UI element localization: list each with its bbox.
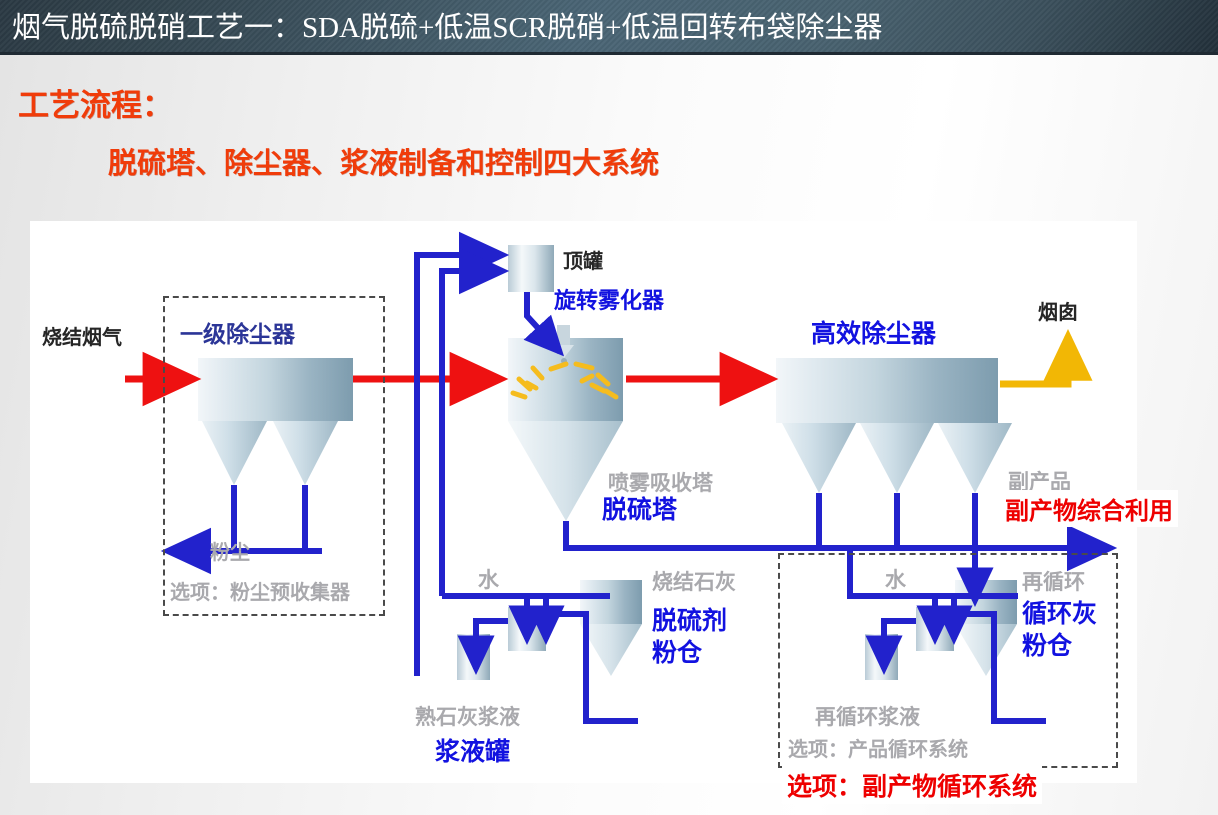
pipe-riser-outer: [417, 255, 502, 676]
label-water-left: 水: [478, 564, 499, 594]
label-recycle-slurry: 再循环浆液: [815, 701, 920, 731]
desulfurizer-silo-cone: [580, 624, 642, 676]
label-inlet-gas: 烧结烟气: [42, 321, 122, 350]
title-bar: 烟气脱硫脱硝工艺一：SDA脱硫+低温SCR脱硝+低温回转布袋除尘器: [0, 0, 1218, 52]
label-high-efficiency-collector: 高效除尘器: [811, 314, 936, 350]
stack-line: [1000, 336, 1068, 384]
label-recycle-ash-silo-line2: 粉仓: [1022, 626, 1072, 662]
page-title: 工艺流程：: [18, 80, 173, 125]
label-desulfurizer-silo-line2: 粉仓: [652, 633, 702, 669]
label-byproduct-utilization: 副产物综合利用: [1000, 490, 1178, 527]
label-recycle-ghost: 再循环: [1022, 566, 1085, 596]
label-desulfurizer-silo-line1: 脱硫剂: [652, 601, 727, 637]
label-primary-collector: 一级除尘器: [180, 315, 295, 349]
label-dust: 粉尘: [210, 536, 250, 565]
label-head-tank: 顶罐: [563, 245, 603, 274]
label-desulfurization-tower: 脱硫塔: [602, 490, 677, 526]
label-water-right: 水: [885, 564, 906, 594]
pipe-riser-inner: [442, 271, 502, 596]
spray-pattern: [513, 364, 616, 397]
label-slurry-tank: 浆液罐: [435, 732, 510, 768]
pipe-mixer-to-slurry-tank: [476, 621, 508, 669]
process-flow-diagram: 烧结烟气 一级除尘器 粉尘 选项：粉尘预收集器 顶罐 旋转雾化器 喷雾吸收塔 脱…: [30, 221, 1137, 783]
label-sintered-lime-ghost: 烧结石灰: [652, 566, 736, 596]
label-recycle-ash-silo-line1: 循环灰: [1022, 594, 1097, 630]
label-option-product-recycle: 选项：产品循环系统: [788, 733, 968, 762]
label-stack: 烟囱: [1038, 296, 1078, 325]
label-rotary-atomizer: 旋转雾化器: [554, 283, 664, 315]
label-slaked-lime-slurry: 熟石灰浆液: [415, 701, 520, 731]
label-option-dust-precollector: 选项：粉尘预收集器: [170, 576, 350, 605]
title-bar-text: 烟气脱硫脱硝工艺一：SDA脱硫+低温SCR脱硝+低温回转布袋除尘器: [12, 4, 883, 46]
page-subtitle: 脱硫塔、除尘器、浆液制备和控制四大系统: [108, 140, 659, 182]
label-option-byproduct-recycle: 选项：副产物循环系统: [782, 766, 1042, 804]
high-efficiency-collector-hoppers: [782, 423, 1012, 493]
